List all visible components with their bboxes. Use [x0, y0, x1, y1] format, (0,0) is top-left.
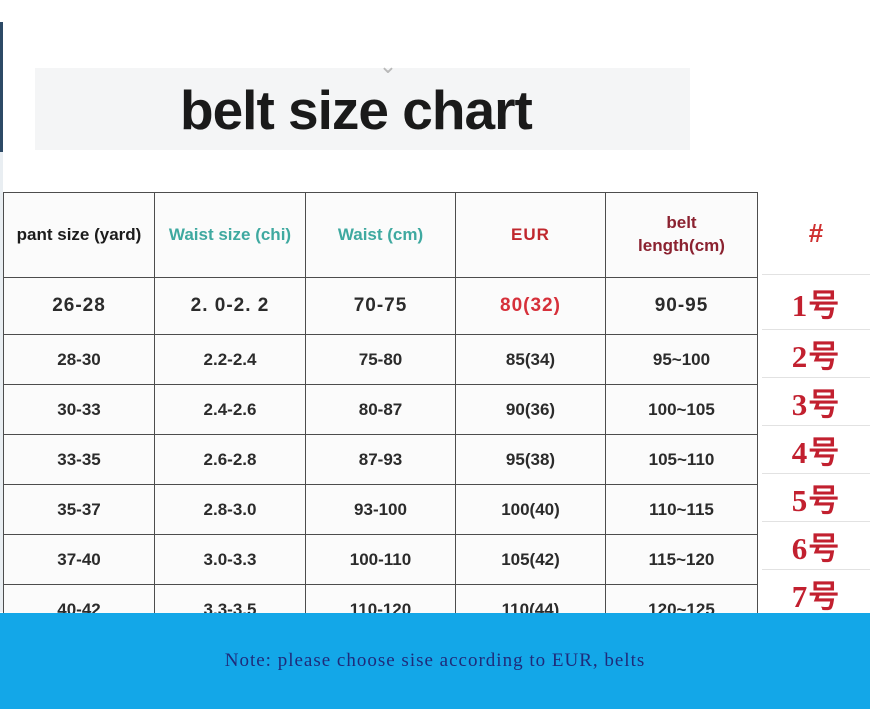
chevron-down-icon: ⌄: [372, 58, 404, 76]
cell-waist-chi: 2.6-2.8: [155, 435, 306, 485]
size-number-cell: 7号: [762, 569, 870, 617]
cell-belt-length: 100~105: [606, 385, 758, 435]
cell-pant-size: 35-37: [4, 485, 155, 535]
cell-waist-chi: 2.2-2.4: [155, 335, 306, 385]
table-row: 37-40 3.0-3.3 100-110 105(42) 115~120: [4, 535, 758, 585]
cell-waist-chi: 2.4-2.6: [155, 385, 306, 435]
column-header-pant-size: pant size (yard): [4, 193, 155, 278]
table-row: 28-30 2.2-2.4 75-80 85(34) 95~100: [4, 335, 758, 385]
cell-belt-length: 90-95: [606, 278, 758, 335]
cell-belt-length: 105~110: [606, 435, 758, 485]
cell-pant-size: 26-28: [4, 278, 155, 335]
cell-pant-size: 28-30: [4, 335, 155, 385]
belt-header-line1: belt: [607, 212, 756, 235]
table-header-row: pant size (yard) Waist size (chi) Waist …: [4, 193, 758, 278]
cell-eur: 100(40): [456, 485, 606, 535]
side-column-header-hash: #: [762, 192, 870, 274]
column-header-eur: EUR: [456, 193, 606, 278]
cell-pant-size: 33-35: [4, 435, 155, 485]
cell-waist-cm: 75-80: [306, 335, 456, 385]
cell-pant-size: 30-33: [4, 385, 155, 435]
cell-eur: 95(38): [456, 435, 606, 485]
cell-waist-cm: 80-87: [306, 385, 456, 435]
cell-waist-cm: 70-75: [306, 278, 456, 335]
cell-waist-cm: 87-93: [306, 435, 456, 485]
size-number-cell: 3号: [762, 377, 870, 425]
cell-belt-length: 115~120: [606, 535, 758, 585]
cell-belt-length: 95~100: [606, 335, 758, 385]
column-header-waist-cm: Waist (cm): [306, 193, 456, 278]
cell-eur: 85(34): [456, 335, 606, 385]
size-number-cell: 2号: [762, 329, 870, 377]
table-row: 33-35 2.6-2.8 87-93 95(38) 105~110: [4, 435, 758, 485]
cell-waist-cm: 93-100: [306, 485, 456, 535]
cell-waist-chi: 2.8-3.0: [155, 485, 306, 535]
page-title: belt size chart: [180, 78, 700, 142]
column-header-belt-length: belt length(cm): [606, 193, 758, 278]
size-number-cell: 5号: [762, 473, 870, 521]
size-chart-table: pant size (yard) Waist size (chi) Waist …: [3, 192, 758, 635]
table-row: 26-28 2. 0-2. 2 70-75 80(32) 90-95: [4, 278, 758, 335]
size-number-column: # 1号 2号 3号 4号 5号 6号 7号: [762, 192, 870, 617]
table-row: 30-33 2.4-2.6 80-87 90(36) 100~105: [4, 385, 758, 435]
size-number-cell: 6号: [762, 521, 870, 569]
belt-header-line2: length(cm): [607, 235, 756, 258]
cell-belt-length: 110~115: [606, 485, 758, 535]
cell-eur: 105(42): [456, 535, 606, 585]
cell-eur: 80(32): [456, 278, 606, 335]
cell-waist-chi: 2. 0-2. 2: [155, 278, 306, 335]
cell-eur: 90(36): [456, 385, 606, 435]
size-number-cell: 4号: [762, 425, 870, 473]
column-header-waist-chi: Waist size (chi): [155, 193, 306, 278]
note-text: Note: please choose sise according to EU…: [0, 650, 870, 672]
cell-pant-size: 37-40: [4, 535, 155, 585]
cell-waist-chi: 3.0-3.3: [155, 535, 306, 585]
table-row: 35-37 2.8-3.0 93-100 100(40) 110~115: [4, 485, 758, 535]
belt-size-chart-page: ⌄ belt size chart pant size (yard) Waist…: [0, 0, 870, 709]
size-number-cell: 1号: [762, 274, 870, 329]
cell-waist-cm: 100-110: [306, 535, 456, 585]
